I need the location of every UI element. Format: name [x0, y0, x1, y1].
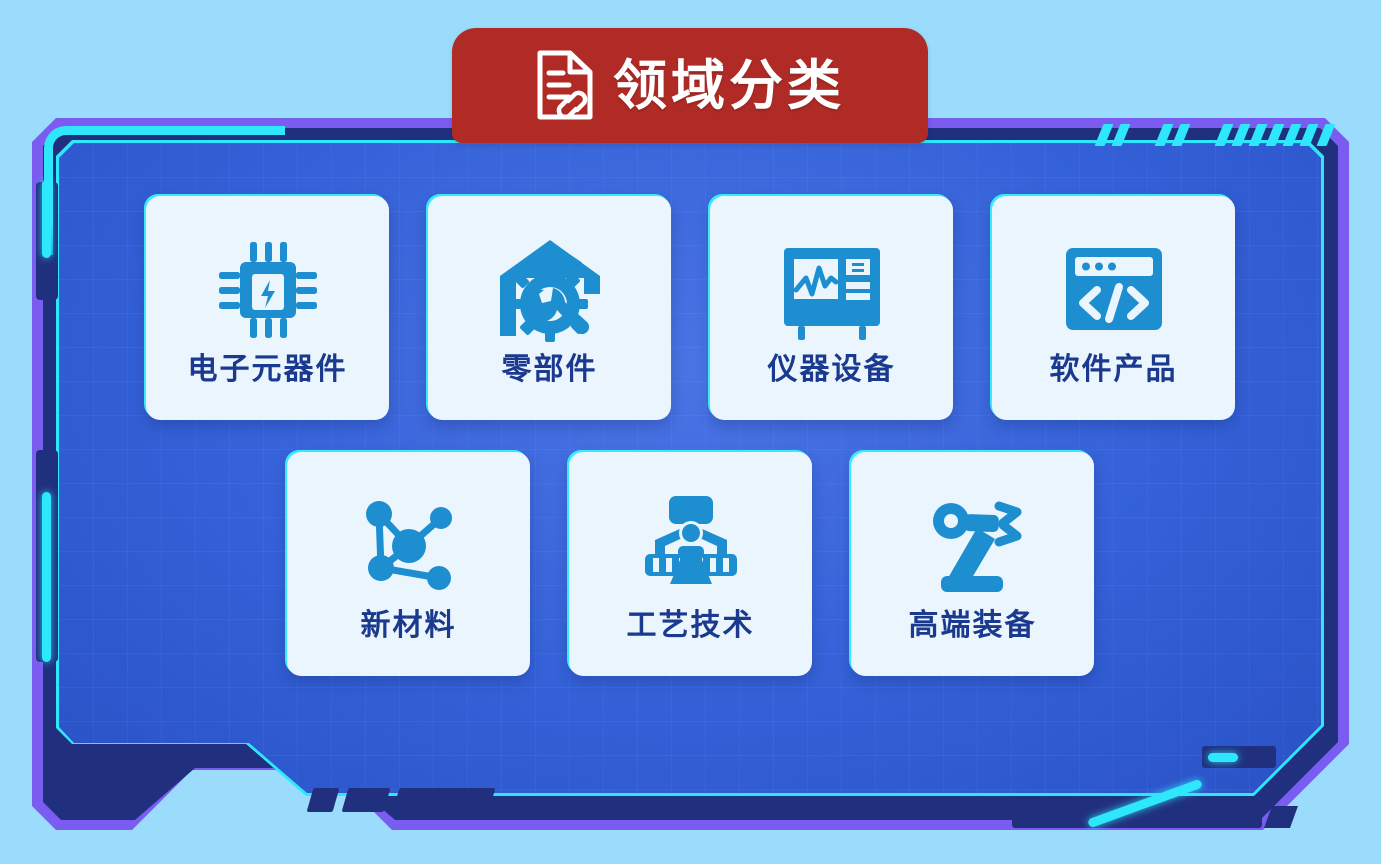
category-card-label: 软件产品	[1050, 355, 1178, 385]
edge-accent-bar-upper-icon	[42, 180, 51, 258]
category-card-electronic-components[interactable]: 电子元器件	[146, 196, 389, 420]
category-card-new-materials[interactable]: 新材料	[287, 452, 530, 676]
category-card-high-end-equipment[interactable]: 高端装备	[851, 452, 1094, 676]
category-card-label: 工艺技术	[627, 611, 755, 641]
category-card-label: 仪器设备	[768, 355, 896, 385]
category-card-process-technology[interactable]: 工艺技术	[569, 452, 812, 676]
robot-arm-icon	[915, 487, 1031, 605]
edge-accent-bar-lower-icon	[42, 492, 51, 662]
category-card-software[interactable]: 软件产品	[992, 196, 1235, 420]
process-assembly-icon	[633, 487, 749, 605]
corner-stripes-top-right-icon	[1063, 124, 1331, 146]
category-card-label: 高端装备	[909, 611, 1037, 641]
factory-gear-wrench-icon	[492, 231, 608, 349]
category-card-label: 零部件	[502, 355, 598, 385]
category-card-label: 电子元器件	[188, 355, 348, 385]
page-title-banner: 领域分类	[452, 28, 928, 143]
page-title: 领域分类	[613, 59, 845, 113]
document-link-icon	[535, 49, 595, 126]
category-card-instruments[interactable]: 仪器设备	[710, 196, 953, 420]
corner-dashes-bottom-left-icon	[310, 788, 492, 812]
molecule-icon	[351, 487, 467, 605]
category-card-label: 新材料	[361, 611, 457, 641]
oscilloscope-icon	[774, 231, 890, 349]
edge-pill-accent-icon	[1208, 753, 1238, 762]
chip-icon	[210, 231, 326, 349]
code-window-icon	[1056, 231, 1172, 349]
category-card-parts[interactable]: 零部件	[428, 196, 671, 420]
